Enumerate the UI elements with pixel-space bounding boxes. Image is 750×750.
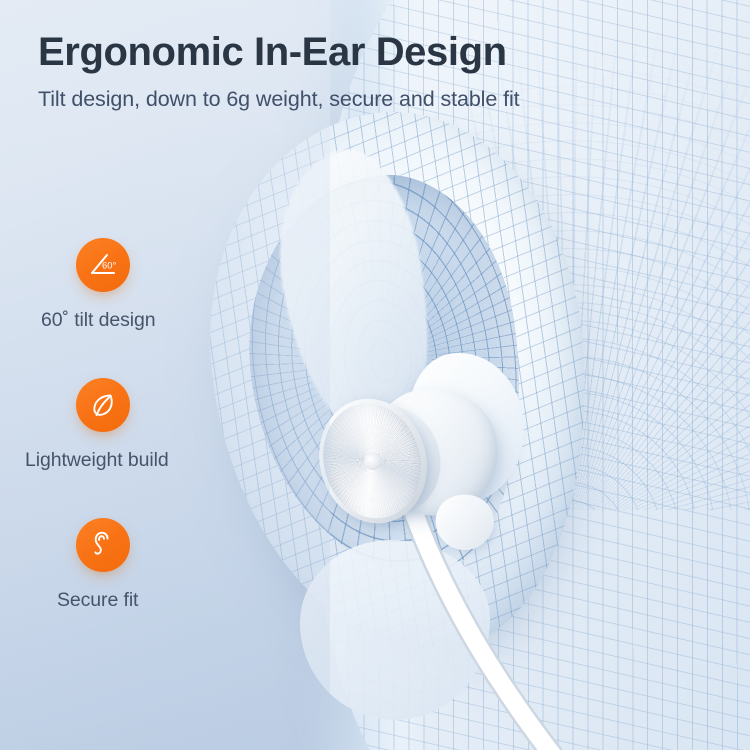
page-subtitle: Tilt design, down to 6g weight, secure a… (38, 87, 698, 112)
feature-item-secure-fit: Secure fit (0, 518, 230, 612)
feature-item-lightweight: Lightweight build (0, 378, 230, 472)
feature-item-tilt-design: 60° 60˚ tilt design (0, 238, 230, 332)
feature-label-lightweight: Lightweight build (25, 449, 230, 472)
angle-60-degrees-icon: 60° (76, 238, 130, 292)
headline-block: Ergonomic In-Ear Design Tilt design, dow… (38, 30, 698, 112)
feature-label-secure-fit: Secure fit (57, 589, 230, 612)
earphone-bud (318, 382, 548, 562)
page-title: Ergonomic In-Ear Design (38, 30, 698, 75)
feature-label-tilt-design: 60˚ tilt design (41, 309, 230, 332)
product-feature-poster: Ergonomic In-Ear Design Tilt design, dow… (0, 0, 750, 750)
ear-icon (76, 518, 130, 572)
leaf-icon (76, 378, 130, 432)
svg-text:60°: 60° (102, 261, 117, 272)
feature-list: 60° 60˚ tilt design Lightweight build (0, 238, 230, 658)
